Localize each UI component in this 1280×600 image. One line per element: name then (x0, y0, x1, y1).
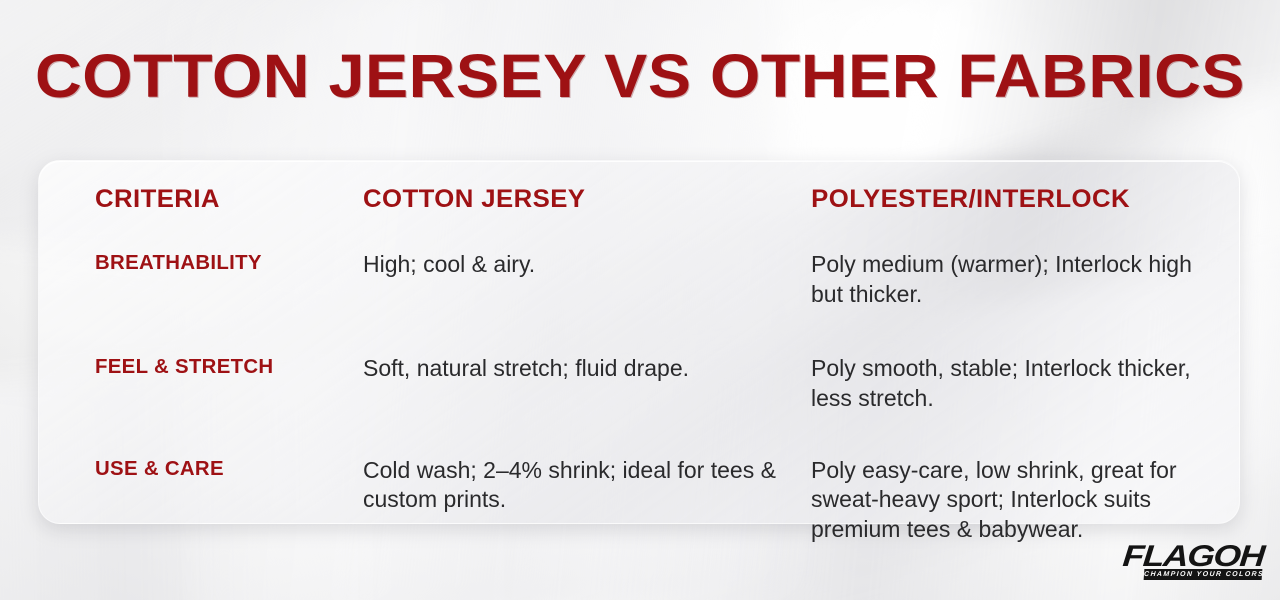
column-header-cotton-jersey: COTTON JERSEY (363, 185, 818, 250)
row-criteria-breathability: BREATHABILITY (95, 250, 368, 354)
cell-breathability-cotton-jersey: High; cool & airy. (363, 250, 805, 354)
page-title: COTTON JERSEY VS OTHER FABRICS (0, 44, 1280, 108)
brand-logo: FLAGOH CHAMPION YOUR COLORS (1144, 542, 1262, 586)
logo-wordmark: FLAGOH (1122, 542, 1264, 572)
cell-feel-stretch-polyester-interlock: Poly smooth, stable; Interlock thicker, … (805, 354, 1205, 456)
cell-breathability-polyester-interlock: Poly medium (warmer); Interlock high but… (805, 250, 1205, 354)
row-criteria-feel-stretch: FEEL & STRETCH (95, 354, 368, 456)
comparison-card: CRITERIA COTTON JERSEY POLYESTER/INTERLO… (38, 160, 1240, 524)
infographic-canvas: COTTON JERSEY VS OTHER FABRICS CRITERIA … (0, 0, 1280, 600)
cell-use-care-polyester-interlock: Poly easy-care, low shrink, great for sw… (805, 456, 1205, 546)
column-header-polyester-interlock: POLYESTER/INTERLOCK (805, 185, 1217, 250)
comparison-table: CRITERIA COTTON JERSEY POLYESTER/INTERLO… (39, 161, 1239, 523)
row-criteria-use-care: USE & CARE (95, 456, 368, 546)
cell-use-care-cotton-jersey: Cold wash; 2–4% shrink; ideal for tees &… (363, 456, 805, 546)
column-header-criteria: CRITERIA (95, 185, 371, 250)
logo-tagline: CHAMPION YOUR COLORS (1144, 569, 1263, 580)
cell-feel-stretch-cotton-jersey: Soft, natural stretch; fluid drape. (363, 354, 805, 456)
